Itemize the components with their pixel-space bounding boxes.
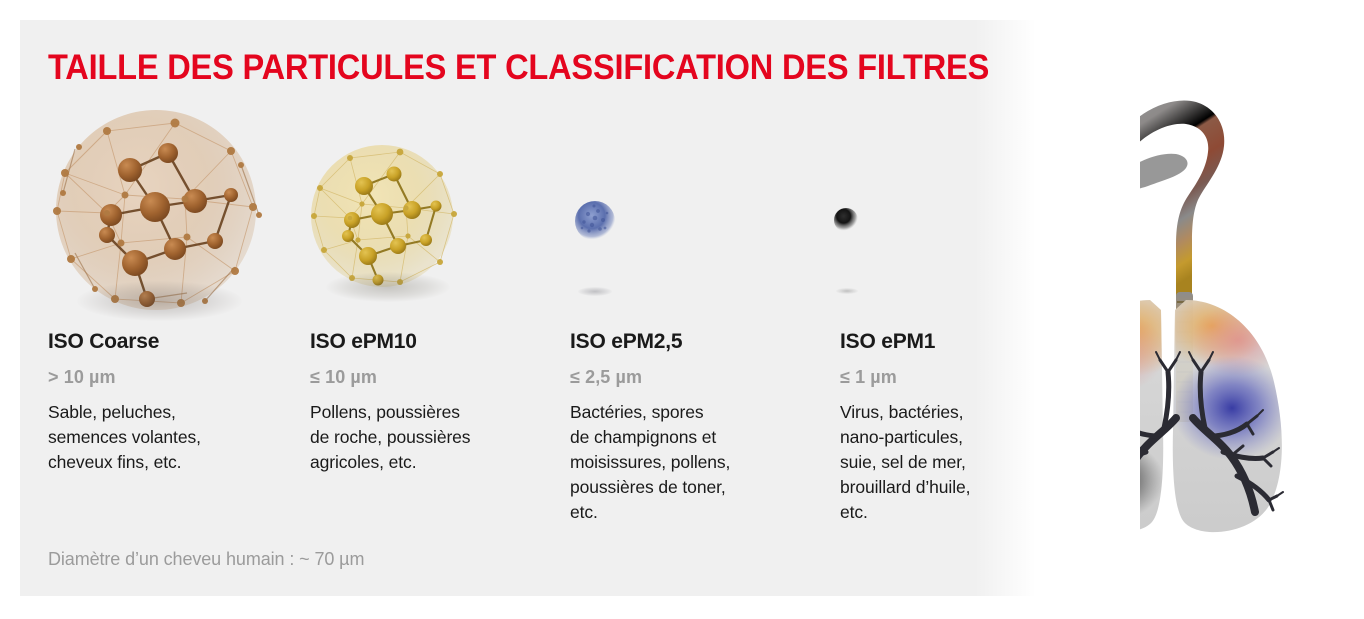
infographic-root: TAILLE DES PARTICULES ET CLASSIFICATION … xyxy=(0,0,1364,619)
column-iso-coarse: ISO Coarse > 10 µm Sable, peluches, seme… xyxy=(48,330,298,475)
coarse-particle-cluster xyxy=(35,103,280,328)
column-size-value: ≤ 10 µm xyxy=(310,367,560,388)
column-description: Sable, peluches, semences volantes, chev… xyxy=(48,400,298,475)
column-heading: ISO ePM1 xyxy=(840,330,1055,354)
epm10-particle-cluster xyxy=(302,140,472,305)
column-heading: ISO Coarse xyxy=(48,330,298,354)
column-iso-epm1: ISO ePM1 ≤ 1 µm Virus, bactéries, nano-p… xyxy=(840,330,1055,525)
column-iso-epm25: ISO ePM2,5 ≤ 2,5 µm Bactéries, spores de… xyxy=(570,330,820,525)
coarse-particle-shadow xyxy=(77,281,242,321)
column-description: Virus, bactéries, nano-particules, suie,… xyxy=(840,400,1055,525)
epm10-particle-shadow xyxy=(326,272,450,302)
column-heading: ISO ePM2,5 xyxy=(570,330,820,354)
column-description: Pollens, poussières de roche, poussières… xyxy=(310,400,560,475)
page-title: TAILLE DES PARTICULES ET CLASSIFICATION … xyxy=(48,48,989,88)
epm1-particle-shadow xyxy=(836,288,858,294)
epm25-particle-dot xyxy=(570,195,630,305)
column-size-value: > 10 µm xyxy=(48,367,298,388)
column-size-value: ≤ 2,5 µm xyxy=(570,367,820,388)
epm1-particle-dot xyxy=(830,198,870,306)
column-heading: ISO ePM10 xyxy=(310,330,560,354)
epm25-particle-shadow xyxy=(578,287,612,296)
hair-diameter-note: Diamètre d’un cheveu humain : ~ 70 µm xyxy=(48,549,364,570)
column-size-value: ≤ 1 µm xyxy=(840,367,1055,388)
column-iso-epm10: ISO ePM10 ≤ 10 µm Pollens, poussières de… xyxy=(310,330,560,475)
column-description: Bactéries, spores de champignons et mois… xyxy=(570,400,820,525)
